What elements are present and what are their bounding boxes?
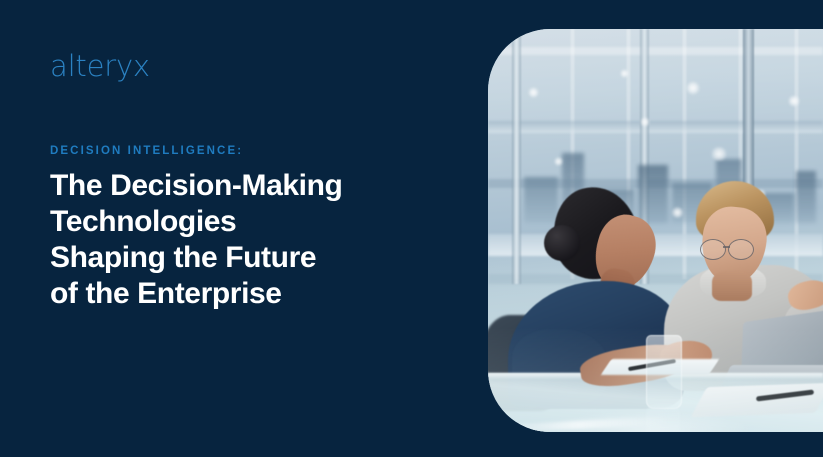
- headline-line-2: Technologies: [50, 204, 450, 240]
- man-neck: [712, 271, 752, 301]
- hero-image: [488, 29, 823, 432]
- alteryx-logo[interactable]: alteryx: [50, 52, 150, 81]
- ceiling-light-bokeh: [554, 157, 563, 166]
- eyebrow-label: DECISION INTELLIGENCE:: [50, 146, 243, 158]
- promo-banner: alteryx DECISION INTELLIGENCE: The Decis…: [0, 0, 823, 457]
- drinking-glass: [646, 335, 682, 409]
- ceiling-light-bokeh: [671, 207, 684, 218]
- hero-image-frame: [488, 29, 823, 432]
- headline-line-3: Shaping the Future: [50, 240, 450, 276]
- text-column: alteryx DECISION INTELLIGENCE: The Decis…: [50, 0, 470, 457]
- ceiling-light-bokeh: [788, 95, 800, 107]
- man-eyeglass-bridge: [723, 246, 730, 248]
- headline-line-1: The Decision-Making: [50, 168, 450, 204]
- ceiling-light-bokeh: [620, 69, 629, 78]
- woman-hair-bun: [544, 225, 580, 261]
- ceiling-light-bokeh: [640, 117, 650, 127]
- man-eyeglass-left: [700, 239, 726, 260]
- ceiling-light-bokeh: [528, 87, 539, 98]
- skyline-building: [638, 165, 668, 223]
- skyline-building: [524, 177, 558, 223]
- ceiling-light-bokeh: [710, 147, 728, 161]
- skyline-building: [796, 171, 816, 223]
- ceiling-light-bokeh: [686, 81, 700, 95]
- page-title: The Decision-Making Technologies Shaping…: [50, 168, 450, 312]
- ceiling-band: [488, 47, 823, 55]
- headline-line-4: of the Enterprise: [50, 276, 450, 312]
- man-eyeglass-right: [728, 239, 754, 260]
